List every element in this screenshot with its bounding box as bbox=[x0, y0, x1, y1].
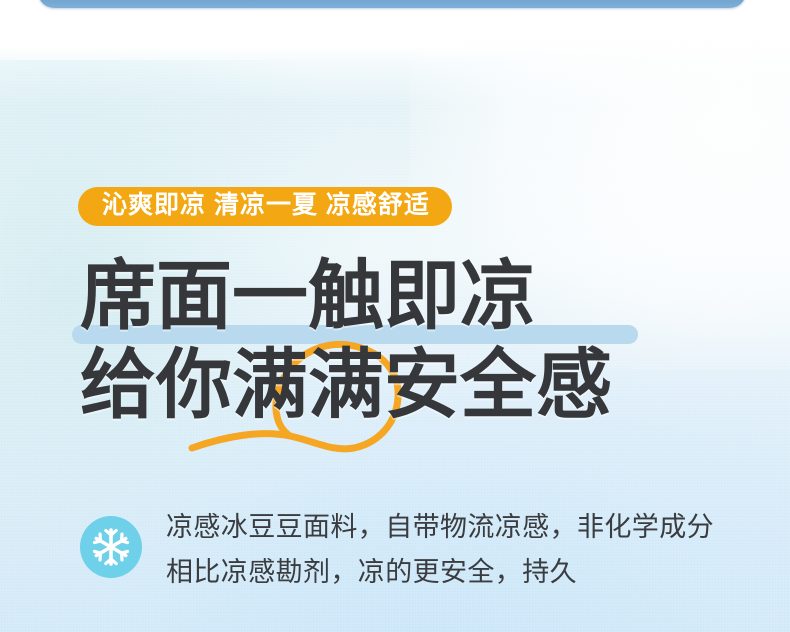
page-headline: 席面一触即凉 给你满满安全感 bbox=[80, 252, 612, 430]
previous-section-edge-bar bbox=[38, 0, 746, 8]
feature-description-line-1: 凉感冰豆豆面料，自带物流凉感，非化学成分 bbox=[166, 505, 714, 550]
feature-description-line-2: 相比凉感勘剂，凉的更安全，持久 bbox=[166, 550, 714, 595]
tagline-badge-label: 沁爽即凉 清凉一夏 凉感舒适 bbox=[102, 193, 430, 218]
promo-banner-page: 沁爽即凉 清凉一夏 凉感舒适 席面一触即凉 给你满满安全感 bbox=[0, 0, 790, 632]
feature-description-text: 凉感冰豆豆面料，自带物流凉感，非化学成分 相比凉感勘剂，凉的更安全，持久 bbox=[166, 505, 714, 595]
headline-line-1: 席面一触即凉 bbox=[80, 252, 612, 341]
feature-description-row: 凉感冰豆豆面料，自带物流凉感，非化学成分 相比凉感勘剂，凉的更安全，持久 bbox=[80, 505, 714, 595]
tagline-badge: 沁爽即凉 清凉一夏 凉感舒适 bbox=[78, 187, 452, 226]
snowflake-icon bbox=[80, 516, 142, 578]
headline-line-2: 给你满满安全感 bbox=[80, 341, 612, 430]
